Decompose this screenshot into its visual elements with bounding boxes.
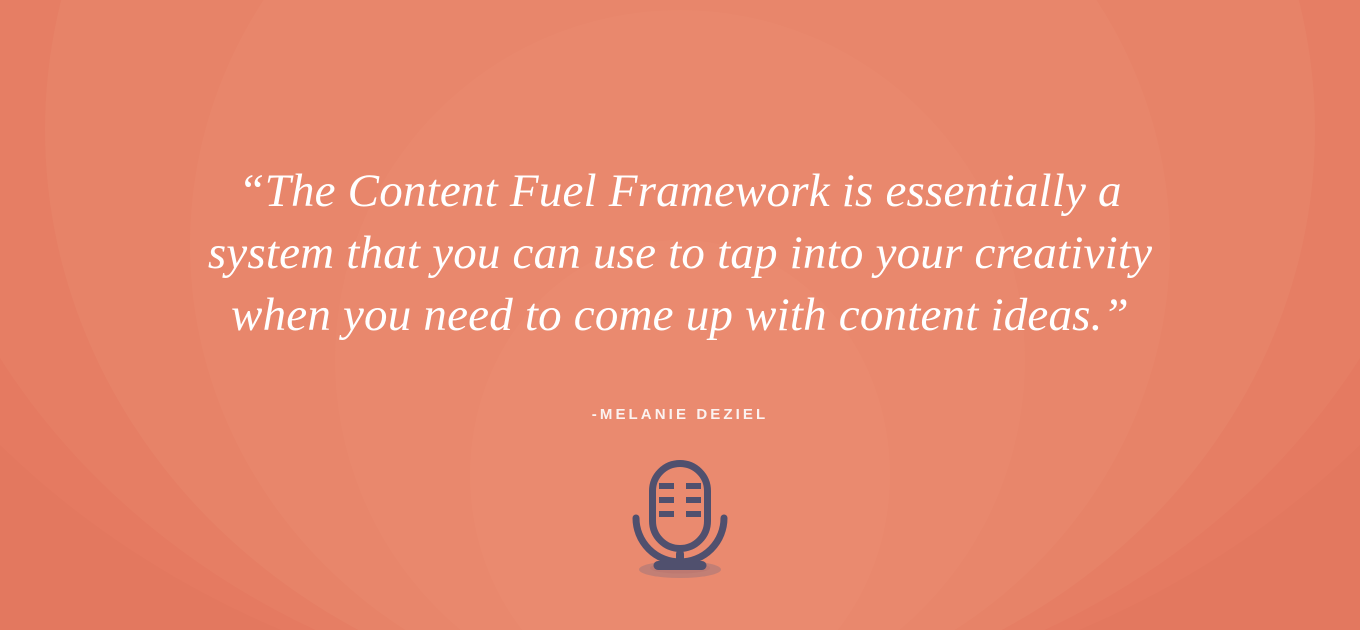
microphone-grille — [659, 486, 701, 514]
microphone-capsule — [653, 464, 708, 549]
quote-card: “The Content Fuel Framework is essential… — [0, 0, 1360, 630]
quote-attribution: -MELANIE DEZIEL — [0, 406, 1360, 423]
microphone-icon — [610, 455, 750, 590]
quote-text: “The Content Fuel Framework is essential… — [0, 160, 1360, 346]
